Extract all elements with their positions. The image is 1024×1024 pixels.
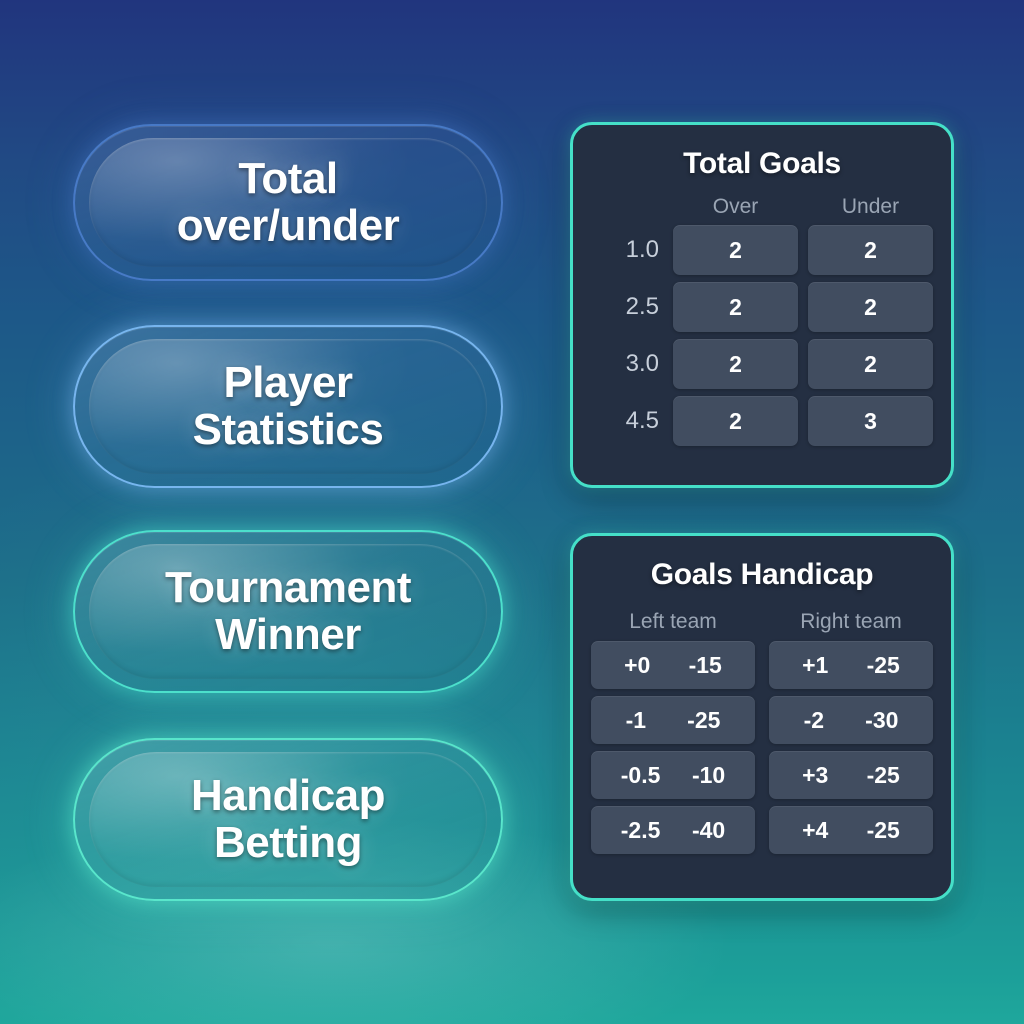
odds-cell-over[interactable]: 2 <box>673 225 798 275</box>
market-pill-total-over-under[interactable]: Total over/under <box>73 124 503 281</box>
market-pill-label: Handicap Betting <box>167 773 409 866</box>
table-row: +0 -15 +1 -25 <box>591 641 933 689</box>
handicap-cell-left[interactable]: -0.5 -10 <box>591 751 755 799</box>
table-row: 1.0 2 2 <box>591 225 933 275</box>
odds-value: -25 <box>867 817 900 844</box>
column-header-left-team: Left team <box>591 610 755 634</box>
odds-value: -30 <box>865 707 898 734</box>
odds-value: -15 <box>689 652 722 679</box>
odds-cell-under[interactable]: 2 <box>808 225 933 275</box>
total-goals-card: Total Goals Over Under 1.0 2 2 2.5 2 2 3… <box>570 122 954 488</box>
odds-cell-under[interactable]: 2 <box>808 339 933 389</box>
row-label-line: 1.0 <box>591 236 663 264</box>
odds-value: -25 <box>867 652 900 679</box>
table-row: 3.0 2 2 <box>591 339 933 389</box>
total-goals-title: Total Goals <box>591 147 933 181</box>
row-label-line: 4.5 <box>591 407 663 435</box>
handicap-cell-left[interactable]: +0 -15 <box>591 641 755 689</box>
goals-handicap-card: Goals Handicap Left team Right team +0 -… <box>570 533 954 901</box>
odds-value: -25 <box>867 762 900 789</box>
odds-cell-over[interactable]: 2 <box>673 282 798 332</box>
odds-cell-under[interactable]: 3 <box>808 396 933 446</box>
market-pill-label: Tournament Winner <box>141 565 435 658</box>
market-pill-label: Player Statistics <box>169 360 408 453</box>
market-pill-handicap-betting[interactable]: Handicap Betting <box>73 738 503 901</box>
row-label-line: 2.5 <box>591 293 663 321</box>
odds-value: -25 <box>687 707 720 734</box>
handicap-value: -2.5 <box>621 817 661 844</box>
table-row: -2.5 -40 +4 -25 <box>591 806 933 854</box>
table-row: 2.5 2 2 <box>591 282 933 332</box>
table-row: -1 -25 -2 -30 <box>591 696 933 744</box>
handicap-value: +1 <box>802 652 828 679</box>
handicap-value: +0 <box>624 652 650 679</box>
handicap-cell-right[interactable]: -2 -30 <box>769 696 933 744</box>
column-header-over: Over <box>673 195 798 219</box>
odds-cell-over[interactable]: 2 <box>673 396 798 446</box>
handicap-value: -0.5 <box>621 762 661 789</box>
goals-handicap-title: Goals Handicap <box>591 558 933 592</box>
market-pill-label: Total over/under <box>153 156 423 249</box>
handicap-cell-right[interactable]: +3 -25 <box>769 751 933 799</box>
market-pill-player-statistics[interactable]: Player Statistics <box>73 325 503 488</box>
odds-value: -40 <box>692 817 725 844</box>
column-header-under: Under <box>808 195 933 219</box>
handicap-cell-right[interactable]: +4 -25 <box>769 806 933 854</box>
column-header-right-team: Right team <box>769 610 933 634</box>
total-goals-header-row: Over Under <box>591 195 933 219</box>
row-label-line: 3.0 <box>591 350 663 378</box>
table-row: 4.5 2 3 <box>591 396 933 446</box>
handicap-cell-left[interactable]: -1 -25 <box>591 696 755 744</box>
odds-cell-under[interactable]: 2 <box>808 282 933 332</box>
handicap-value: +4 <box>802 817 828 844</box>
handicap-value: +3 <box>802 762 828 789</box>
goals-handicap-header-row: Left team Right team <box>591 610 933 634</box>
handicap-cell-left[interactable]: -2.5 -40 <box>591 806 755 854</box>
market-pill-tournament-winner[interactable]: Tournament Winner <box>73 530 503 693</box>
handicap-cell-right[interactable]: +1 -25 <box>769 641 933 689</box>
app-stage: Total over/under Player Statistics Tourn… <box>0 0 1024 1024</box>
handicap-value: -1 <box>626 707 646 734</box>
odds-cell-over[interactable]: 2 <box>673 339 798 389</box>
table-row: -0.5 -10 +3 -25 <box>591 751 933 799</box>
odds-value: -10 <box>692 762 725 789</box>
handicap-value: -2 <box>804 707 824 734</box>
